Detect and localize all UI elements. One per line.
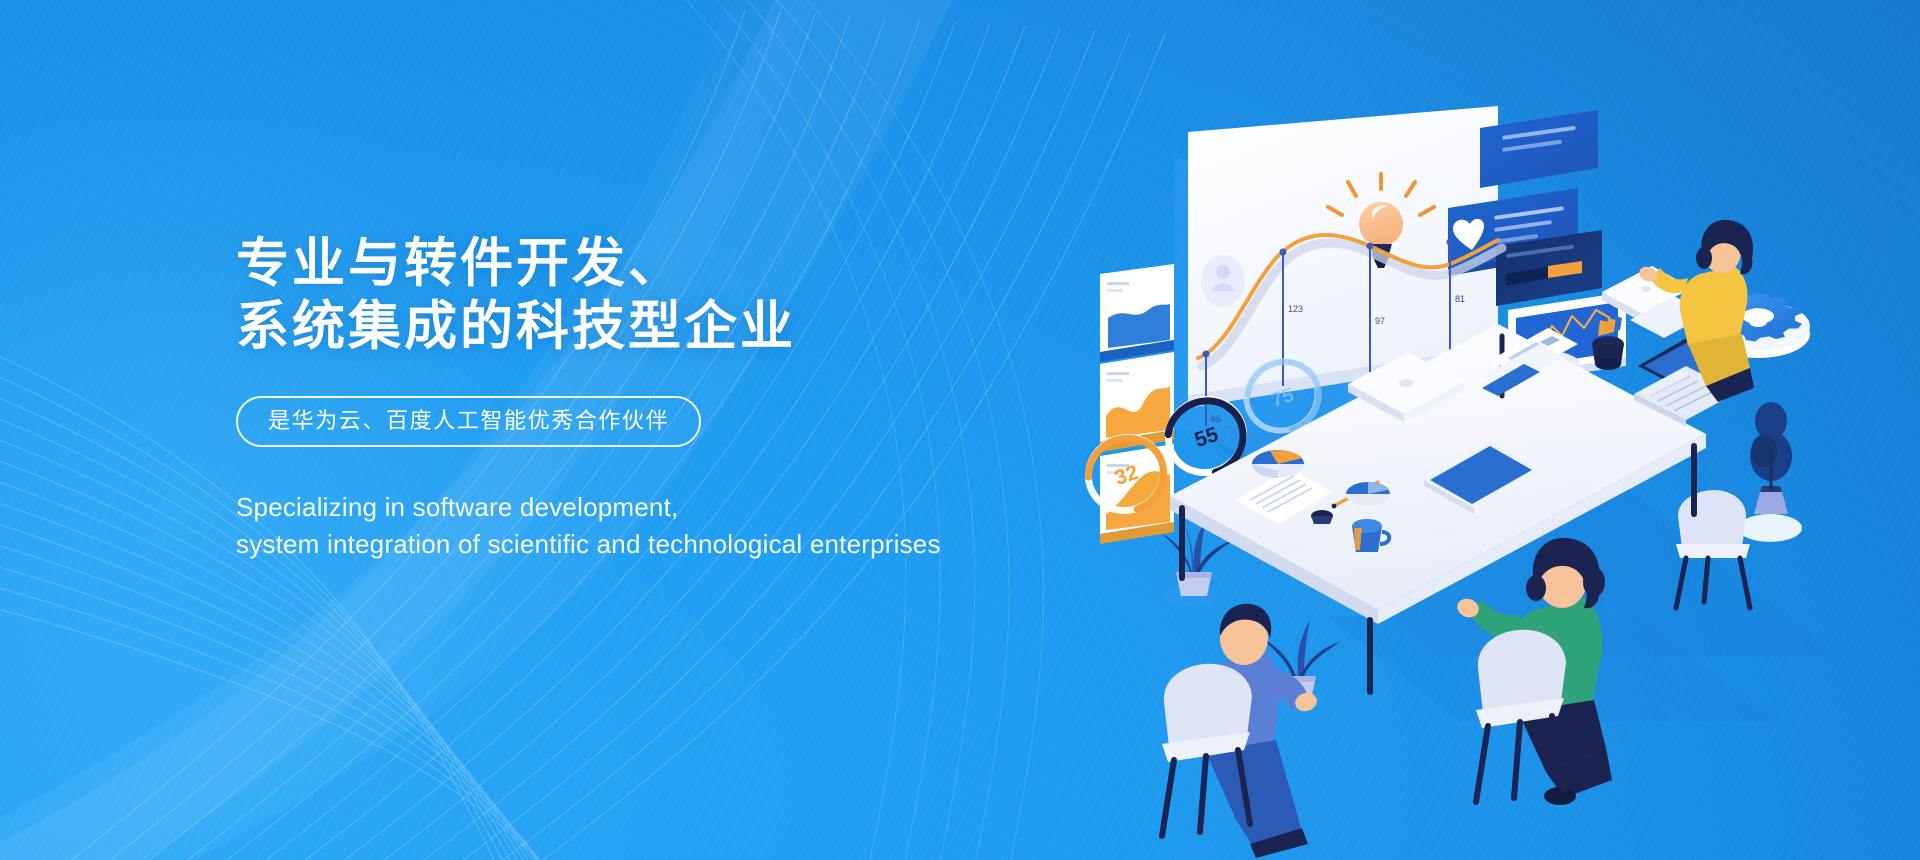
chart-point-label: 97	[1375, 316, 1385, 326]
page-title: 专业与转件开发、 系统集成的科技型企业	[236, 232, 1136, 358]
pie-chart	[1346, 482, 1390, 506]
chart-point-label: 81	[1455, 294, 1465, 304]
isometric-workspace-svg: 65 123 97 81	[1078, 96, 1898, 756]
chart-point-label: 123	[1288, 304, 1303, 314]
hero-illustration: 65 123 97 81	[1078, 96, 1898, 756]
partner-badge[interactable]: 是华为云、百度人工智能优秀合作伙伴	[236, 396, 701, 447]
avatar	[1201, 255, 1245, 307]
pie-chart	[1252, 450, 1304, 478]
hero-subtitle: Specializing in software development, sy…	[236, 489, 1136, 563]
coffee-cup	[1311, 510, 1333, 524]
hero-banner: 专业与转件开发、 系统集成的科技型企业 是华为云、百度人工智能优秀合作伙伴 Sp…	[0, 0, 1920, 860]
topiary-plant	[1738, 402, 1802, 542]
hero-copy: 专业与转件开发、 系统集成的科技型企业 是华为云、百度人工智能优秀合作伙伴 Sp…	[236, 232, 1136, 563]
